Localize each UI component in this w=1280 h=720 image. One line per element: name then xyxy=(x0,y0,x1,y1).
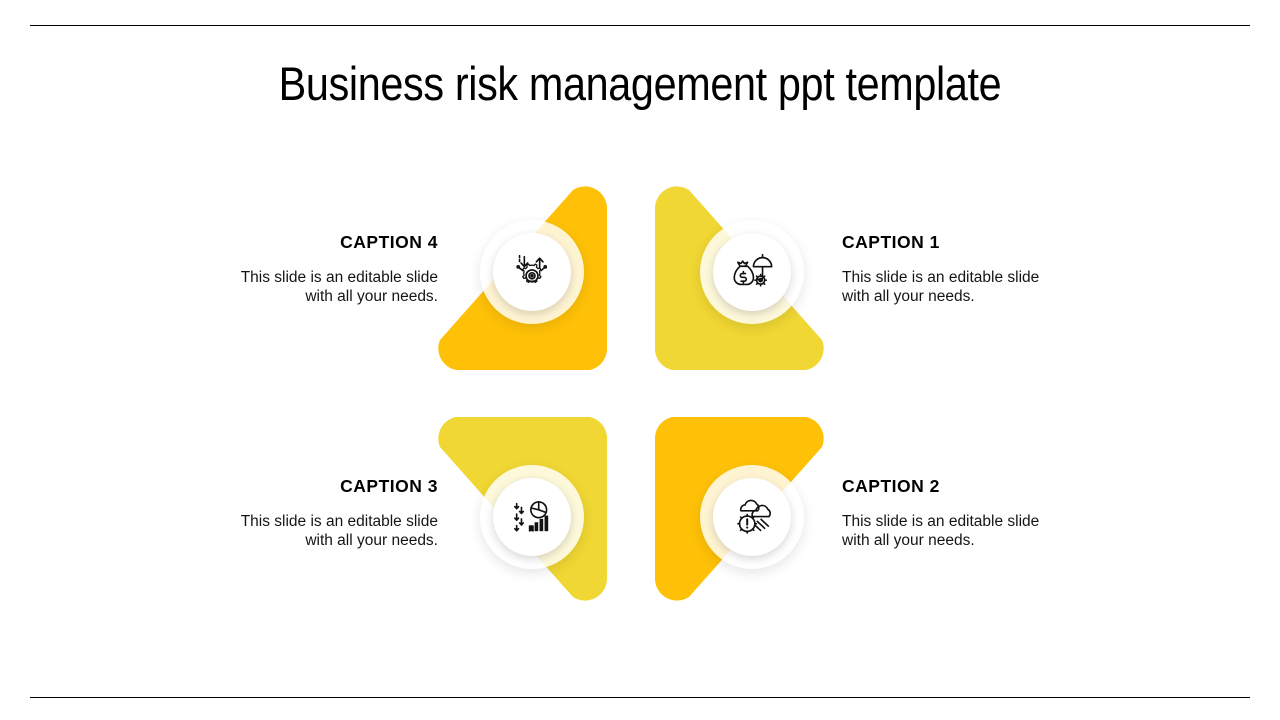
money-bag-umbrella-gear-icon xyxy=(729,249,775,295)
caption-body-4: This slide is an editable slide with all… xyxy=(220,268,438,306)
declining-pie-bar-chart-icon xyxy=(509,494,555,540)
caption-body-3: This slide is an editable slide with all… xyxy=(220,512,438,550)
caption-title-4: CAPTION 4 xyxy=(220,232,438,253)
caption-title-3: CAPTION 3 xyxy=(220,476,438,497)
icon-badge-caption-1[interactable] xyxy=(700,220,804,324)
caption-title-1: CAPTION 1 xyxy=(842,232,1060,253)
slide-canvas: Business risk management ppt template xyxy=(0,0,1280,720)
caption-block-2: CAPTION 2 This slide is an editable slid… xyxy=(842,476,1060,550)
caption-body-2: This slide is an editable slide with all… xyxy=(842,512,1060,550)
gear-target-arrows-icon xyxy=(509,249,555,295)
pinwheel-diagram xyxy=(0,0,1280,720)
caption-block-1: CAPTION 1 This slide is an editable slid… xyxy=(842,232,1060,306)
caption-block-4: CAPTION 4 This slide is an editable slid… xyxy=(220,232,438,306)
icon-badge-caption-4[interactable] xyxy=(480,220,584,324)
caption-body-1: This slide is an editable slide with all… xyxy=(842,268,1060,306)
icon-badge-caption-2[interactable] xyxy=(700,465,804,569)
icon-badge-caption-3[interactable] xyxy=(480,465,584,569)
storm-cloud-warning-gear-icon xyxy=(729,494,775,540)
caption-block-3: CAPTION 3 This slide is an editable slid… xyxy=(220,476,438,550)
caption-title-2: CAPTION 2 xyxy=(842,476,1060,497)
